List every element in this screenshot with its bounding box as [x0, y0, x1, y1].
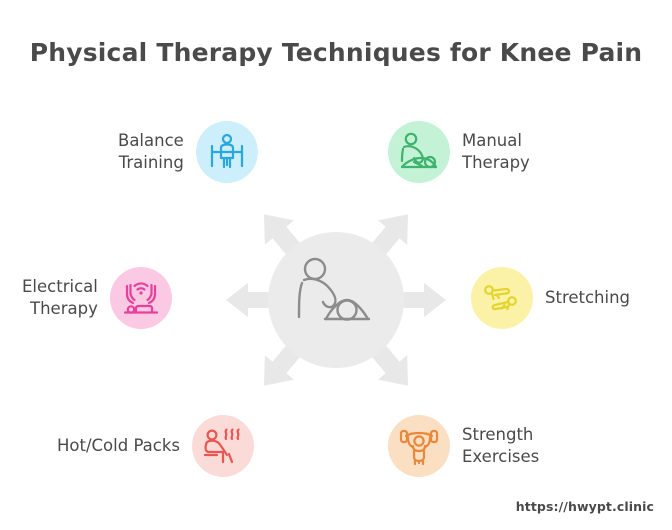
badge-manual-therapy	[388, 121, 450, 183]
node-manual-therapy[interactable]: Manual Therapy	[388, 121, 530, 183]
node-label-stretching: Stretching	[545, 287, 630, 309]
massage-therapy-icon	[397, 131, 441, 173]
node-hot-cold-packs[interactable]: Hot/Cold Packs	[57, 415, 254, 477]
node-label-electrical-therapy: Electrical Therapy	[22, 276, 98, 320]
footer-url[interactable]: https://hwypt.clinic	[516, 499, 654, 514]
node-electrical-therapy[interactable]: Electrical Therapy	[22, 267, 172, 329]
infographic-canvas: Physical Therapy Techniques for Knee Pai…	[0, 0, 672, 530]
node-label-manual-therapy: Manual Therapy	[462, 130, 530, 174]
badge-stretching	[471, 267, 533, 329]
electrical-stimulation-icon	[119, 277, 163, 319]
badge-hot-cold-packs	[192, 415, 254, 477]
heat-waves-person-icon	[201, 425, 245, 467]
node-strength-exercises[interactable]: Strength Exercises	[388, 415, 539, 477]
badge-electrical-therapy	[110, 267, 172, 329]
node-label-strength-exercises: Strength Exercises	[462, 424, 539, 468]
barbell-lifting-icon	[397, 425, 441, 467]
stretching-person-icon	[480, 277, 524, 319]
parallel-bars-walking-icon	[206, 131, 248, 173]
badge-strength-exercises	[388, 415, 450, 477]
node-balance-training[interactable]: Balance Training	[118, 121, 258, 183]
node-label-balance-training: Balance Training	[118, 130, 184, 174]
therapist-treating-knee-icon	[290, 255, 382, 345]
badge-balance-training	[196, 121, 258, 183]
page-title: Physical Therapy Techniques for Knee Pai…	[0, 38, 672, 67]
node-stretching[interactable]: Stretching	[471, 267, 630, 329]
node-label-hot-cold-packs: Hot/Cold Packs	[57, 435, 180, 457]
